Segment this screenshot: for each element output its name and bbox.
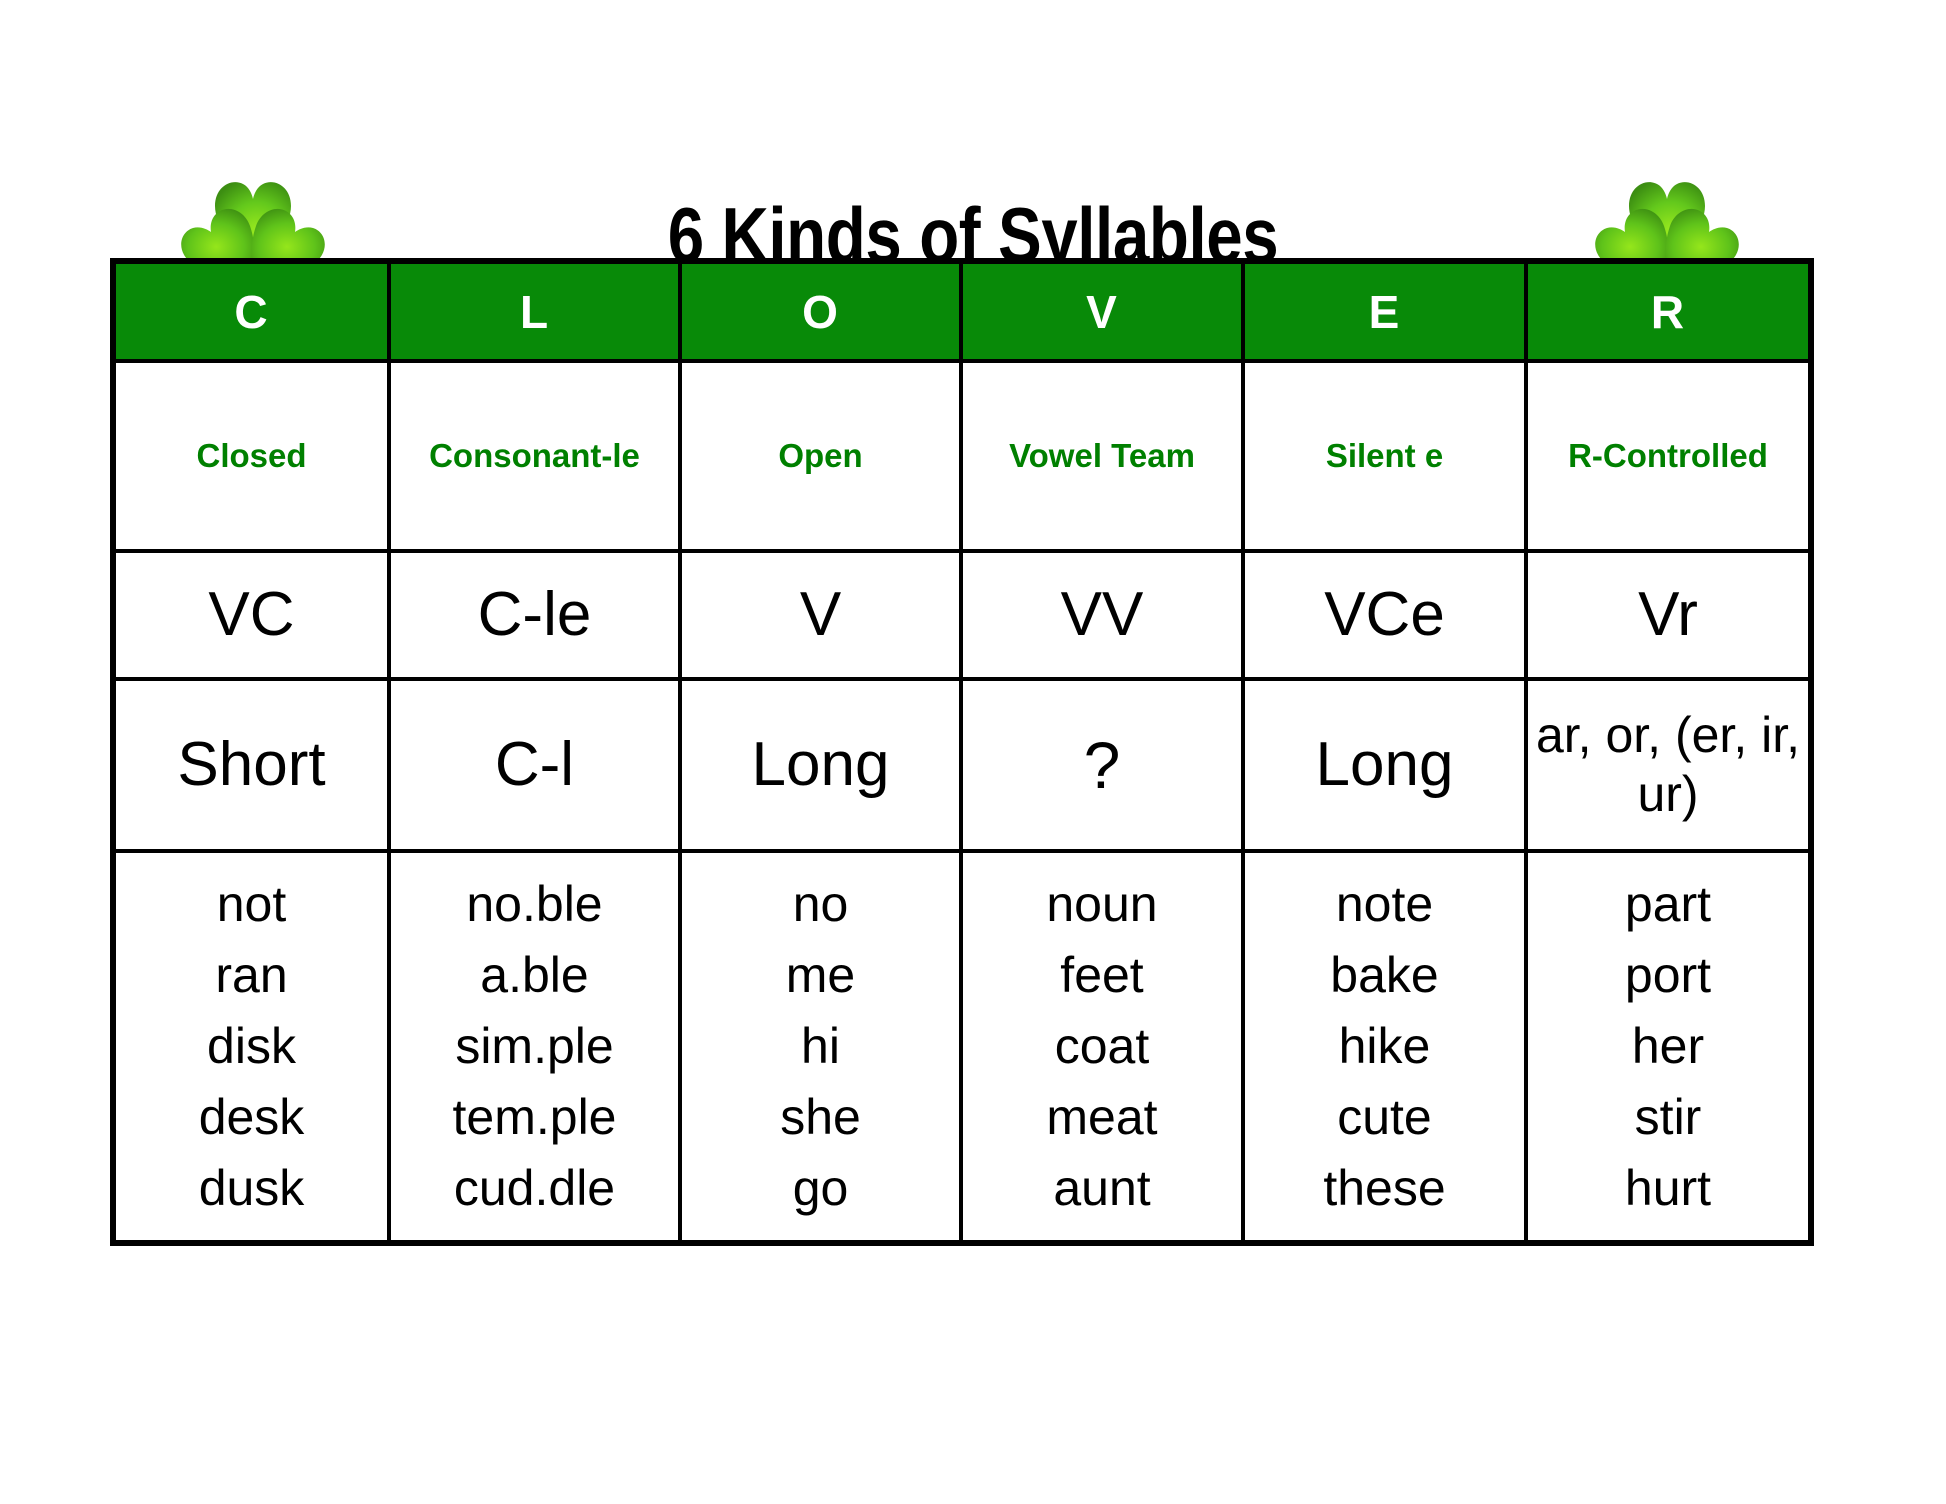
pattern-closed: VC — [113, 551, 389, 679]
table-row-patterns: VC C-le V VV VCe Vr — [113, 551, 1811, 679]
example-word: no — [682, 869, 959, 940]
acronym-letter-r: R — [1526, 261, 1811, 361]
example-word: cud.dle — [391, 1153, 678, 1224]
example-word: hi — [682, 1011, 959, 1082]
example-word: feet — [963, 940, 1241, 1011]
example-word: not — [116, 869, 387, 940]
example-word: cute — [1245, 1082, 1524, 1153]
example-word: dusk — [116, 1153, 387, 1224]
word-list: no me hi she go — [682, 869, 959, 1224]
title-band: 6 Kinds of Syllables — [0, 78, 1946, 248]
pattern-silent-e: VCe — [1243, 551, 1526, 679]
sound-r-controlled-line2: (er, ir, ur) — [1637, 707, 1800, 822]
examples-vowel-team: noun feet coat meat aunt — [961, 851, 1243, 1243]
example-word: stir — [1528, 1082, 1808, 1153]
acronym-letter-c: C — [113, 261, 389, 361]
example-word: me — [682, 940, 959, 1011]
example-word: part — [1528, 869, 1808, 940]
sound-vowel-team: ? — [961, 679, 1243, 851]
example-word: aunt — [963, 1153, 1241, 1224]
examples-consonant-le: no.ble a.ble sim.ple tem.ple cud.dle — [389, 851, 680, 1243]
example-word: meat — [963, 1082, 1241, 1153]
sound-silent-e: Long — [1243, 679, 1526, 851]
example-word: no.ble — [391, 869, 678, 940]
table-row-examples: not ran disk desk dusk no.ble a.ble sim.… — [113, 851, 1811, 1243]
table-row-sounds: Short C-l Long ? Long ar, or, (er, ir, u… — [113, 679, 1811, 851]
example-word: ran — [116, 940, 387, 1011]
example-word: noun — [963, 869, 1241, 940]
sound-r-controlled: ar, or, (er, ir, ur) — [1526, 679, 1811, 851]
examples-closed: not ran disk desk dusk — [113, 851, 389, 1243]
example-word: coat — [963, 1011, 1241, 1082]
pattern-r-controlled: Vr — [1526, 551, 1811, 679]
acronym-letter-l: L — [389, 261, 680, 361]
sound-consonant-le: C-l — [389, 679, 680, 851]
example-word: these — [1245, 1153, 1524, 1224]
table-row-syllable-names: Closed Consonant-le Open Vowel Team Sile… — [113, 361, 1811, 551]
word-list: note bake hike cute these — [1245, 869, 1524, 1224]
acronym-letter-e: E — [1243, 261, 1526, 361]
example-word: bake — [1245, 940, 1524, 1011]
page-root: 6 Kinds of Syllables C L O V E R Closed … — [0, 0, 1946, 1504]
example-word: she — [682, 1082, 959, 1153]
acronym-letter-o: O — [680, 261, 961, 361]
example-word: a.ble — [391, 940, 678, 1011]
acronym-letter-v: V — [961, 261, 1243, 361]
word-list: no.ble a.ble sim.ple tem.ple cud.dle — [391, 869, 678, 1224]
sound-closed: Short — [113, 679, 389, 851]
examples-silent-e: note bake hike cute these — [1243, 851, 1526, 1243]
example-word: port — [1528, 940, 1808, 1011]
sound-r-controlled-line1: ar, or, — [1536, 707, 1661, 763]
syllable-name-vowel-team: Vowel Team — [961, 361, 1243, 551]
sound-open: Long — [680, 679, 961, 851]
example-word: note — [1245, 869, 1524, 940]
example-word: hike — [1245, 1011, 1524, 1082]
syllable-types-table: C L O V E R Closed Consonant-le Open Vow… — [110, 258, 1814, 1246]
pattern-consonant-le: C-le — [389, 551, 680, 679]
example-word: her — [1528, 1011, 1808, 1082]
pattern-vowel-team: VV — [961, 551, 1243, 679]
examples-open: no me hi she go — [680, 851, 961, 1243]
syllable-name-silent-e: Silent e — [1243, 361, 1526, 551]
syllable-name-closed: Closed — [113, 361, 389, 551]
examples-r-controlled: part port her stir hurt — [1526, 851, 1811, 1243]
word-list: not ran disk desk dusk — [116, 869, 387, 1224]
pattern-open: V — [680, 551, 961, 679]
example-word: desk — [116, 1082, 387, 1153]
example-word: go — [682, 1153, 959, 1224]
word-list: noun feet coat meat aunt — [963, 869, 1241, 1224]
example-word: disk — [116, 1011, 387, 1082]
example-word: sim.ple — [391, 1011, 678, 1082]
table-row-acronym-letters: C L O V E R — [113, 261, 1811, 361]
word-list: part port her stir hurt — [1528, 869, 1808, 1224]
syllable-name-consonant-le: Consonant-le — [389, 361, 680, 551]
example-word: hurt — [1528, 1153, 1808, 1224]
syllable-name-open: Open — [680, 361, 961, 551]
syllable-name-r-controlled: R-Controlled — [1526, 361, 1811, 551]
example-word: tem.ple — [391, 1082, 678, 1153]
